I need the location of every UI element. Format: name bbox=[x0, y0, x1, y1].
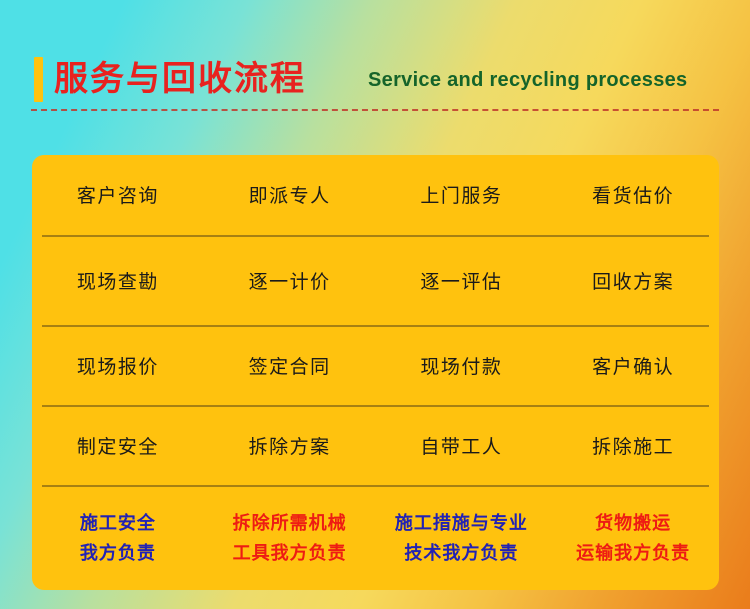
responsibility-cell: 施工措施与专业 技术我方负责 bbox=[376, 487, 548, 590]
cell-label: 现场报价 bbox=[77, 354, 159, 380]
table-row: 现场报价 签定合同 现场付款 客户确认 bbox=[32, 327, 719, 407]
cell-label: 看货估价 bbox=[592, 183, 674, 209]
responsibility-line-1: 拆除所需机械 bbox=[233, 512, 347, 536]
table-cell: 现场查勘 bbox=[32, 237, 204, 327]
table-cell: 客户咨询 bbox=[32, 155, 204, 237]
cell-label: 制定安全 bbox=[77, 434, 159, 460]
responsibility-cell: 拆除所需机械 工具我方负责 bbox=[204, 487, 376, 590]
header-dashed-divider bbox=[31, 109, 719, 111]
table-cell: 客户确认 bbox=[547, 327, 719, 407]
table-cell: 回收方案 bbox=[547, 237, 719, 327]
cell-label: 客户咨询 bbox=[77, 183, 159, 209]
title-accent-bar bbox=[34, 57, 43, 102]
responsibility-line-1: 施工措施与专业 bbox=[395, 512, 528, 536]
page-title-chinese: 服务与回收流程 bbox=[54, 55, 306, 103]
page-header: 服务与回收流程 Service and recycling processes bbox=[0, 0, 750, 150]
table-row: 现场查勘 逐一计价 逐一评估 回收方案 bbox=[32, 237, 719, 327]
cell-label: 签定合同 bbox=[249, 354, 331, 380]
table-cell: 签定合同 bbox=[204, 327, 376, 407]
responsibility-cell: 货物搬运 运输我方负责 bbox=[547, 487, 719, 590]
table-cell: 上门服务 bbox=[376, 155, 548, 237]
table-cell: 自带工人 bbox=[376, 407, 548, 487]
responsibility-line-2: 工具我方负责 bbox=[233, 542, 347, 566]
responsibility-line-2: 我方负责 bbox=[80, 542, 156, 566]
cell-label: 逐一评估 bbox=[420, 269, 502, 295]
table-cell: 制定安全 bbox=[32, 407, 204, 487]
cell-label: 上门服务 bbox=[420, 183, 502, 209]
table-cell: 逐一评估 bbox=[376, 237, 548, 327]
table-cell: 拆除方案 bbox=[204, 407, 376, 487]
page-title-english: Service and recycling processes bbox=[368, 66, 687, 94]
cell-label: 逐一计价 bbox=[249, 269, 331, 295]
table-footer-row: 施工安全 我方负责 拆除所需机械 工具我方负责 施工措施与专业 技术我方负责 货… bbox=[32, 487, 719, 590]
cell-label: 拆除方案 bbox=[249, 434, 331, 460]
table-cell: 拆除施工 bbox=[547, 407, 719, 487]
cell-label: 拆除施工 bbox=[592, 434, 674, 460]
responsibility-line-1: 施工安全 bbox=[80, 512, 156, 536]
responsibility-line-1: 货物搬运 bbox=[595, 512, 671, 536]
table-cell: 看货估价 bbox=[547, 155, 719, 237]
table-row: 客户咨询 即派专人 上门服务 看货估价 bbox=[32, 155, 719, 237]
table-cell: 逐一计价 bbox=[204, 237, 376, 327]
process-table-card: 客户咨询 即派专人 上门服务 看货估价 现场查勘 逐一计价 逐一评估 bbox=[32, 155, 719, 590]
responsibility-line-2: 运输我方负责 bbox=[576, 542, 690, 566]
cell-label: 回收方案 bbox=[592, 269, 674, 295]
cell-label: 现场付款 bbox=[420, 354, 502, 380]
cell-label: 客户确认 bbox=[592, 354, 674, 380]
page-root: 服务与回收流程 Service and recycling processes … bbox=[0, 0, 750, 609]
responsibility-line-2: 技术我方负责 bbox=[404, 542, 518, 566]
cell-label: 现场查勘 bbox=[77, 269, 159, 295]
cell-label: 自带工人 bbox=[420, 434, 502, 460]
responsibility-cell: 施工安全 我方负责 bbox=[32, 487, 204, 590]
cell-label: 即派专人 bbox=[249, 183, 331, 209]
table-cell: 即派专人 bbox=[204, 155, 376, 237]
table-cell: 现场付款 bbox=[376, 327, 548, 407]
table-cell: 现场报价 bbox=[32, 327, 204, 407]
table-row: 制定安全 拆除方案 自带工人 拆除施工 bbox=[32, 407, 719, 487]
